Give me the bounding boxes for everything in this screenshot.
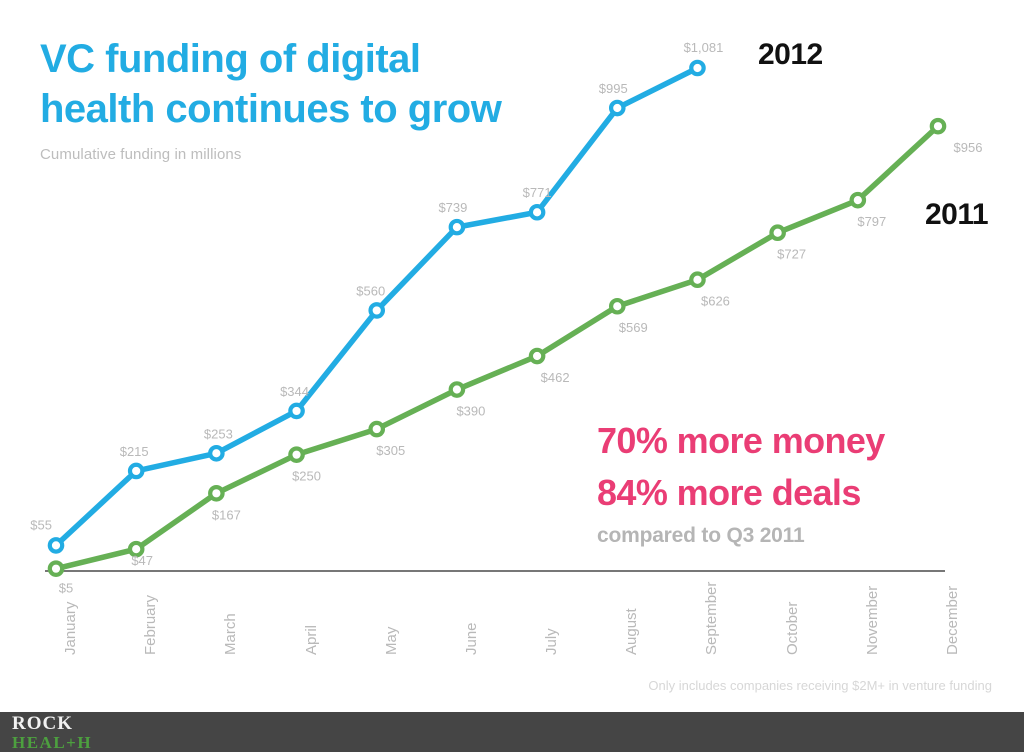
data-point-marker — [771, 227, 783, 239]
x-axis-label-april: April — [303, 625, 320, 655]
x-axis-label-june: June — [463, 622, 480, 655]
x-axis-label-may: May — [383, 627, 400, 655]
value-label: $5 — [59, 581, 73, 596]
data-point-marker — [852, 194, 864, 206]
value-label: $167 — [212, 507, 241, 522]
value-label: $956 — [954, 140, 983, 155]
value-label: $305 — [376, 443, 405, 458]
rock-health-logo: ROCK HEAL+H — [12, 714, 92, 751]
value-label: $560 — [356, 283, 385, 298]
value-label: $995 — [599, 81, 628, 96]
data-point-marker — [611, 300, 623, 312]
x-axis-label-october: October — [784, 602, 801, 655]
logo-text-health: HEAL+H — [12, 734, 92, 751]
data-point-marker — [451, 383, 463, 395]
data-point-marker — [290, 448, 302, 460]
value-label: $797 — [857, 214, 886, 229]
x-axis-label-january: January — [62, 602, 79, 655]
x-axis-label-november: November — [864, 586, 881, 655]
value-label: $390 — [456, 404, 485, 419]
data-point-marker — [531, 206, 543, 218]
x-axis-label-march: March — [222, 613, 239, 655]
callout-comparison-note: compared to Q3 2011 — [597, 522, 997, 550]
value-label: $771 — [523, 185, 552, 200]
callout-block: 70% more money 84% more deals compared t… — [597, 415, 997, 550]
data-point-marker — [691, 62, 703, 74]
x-axis-label-february: February — [142, 595, 159, 655]
value-label: $1,081 — [684, 40, 724, 55]
data-point-marker — [210, 487, 222, 499]
value-label: $47 — [131, 553, 153, 568]
x-axis-label-december: December — [944, 586, 961, 655]
value-label: $569 — [619, 320, 648, 335]
value-label: $727 — [777, 247, 806, 262]
data-point-marker — [371, 304, 383, 316]
chart-footnote: Only includes companies receiving $2M+ i… — [648, 678, 992, 693]
x-axis-label-september: September — [703, 582, 720, 655]
value-label: $55 — [30, 517, 52, 532]
data-point-marker — [290, 405, 302, 417]
data-point-marker — [371, 423, 383, 435]
value-label: $250 — [292, 469, 321, 484]
callout-line-deals: 84% more deals — [597, 467, 997, 519]
logo-text-rock: ROCK — [12, 714, 92, 733]
data-point-marker — [691, 274, 703, 286]
value-label: $462 — [541, 370, 570, 385]
x-axis-label-august: August — [623, 608, 640, 655]
data-point-marker — [210, 447, 222, 459]
value-label: $626 — [701, 294, 730, 309]
data-point-marker — [451, 221, 463, 233]
data-point-marker — [50, 562, 62, 574]
value-label: $253 — [204, 426, 233, 441]
data-point-marker — [50, 539, 62, 551]
x-axis-label-july: July — [543, 628, 560, 655]
footer-bar — [0, 712, 1024, 752]
value-label: $215 — [120, 444, 149, 459]
value-label: $344 — [280, 384, 309, 399]
data-point-marker — [932, 120, 944, 132]
data-point-marker — [130, 465, 142, 477]
value-label: $739 — [438, 200, 467, 215]
data-point-marker — [531, 350, 543, 362]
callout-line-money: 70% more money — [597, 415, 997, 467]
data-point-marker — [611, 102, 623, 114]
